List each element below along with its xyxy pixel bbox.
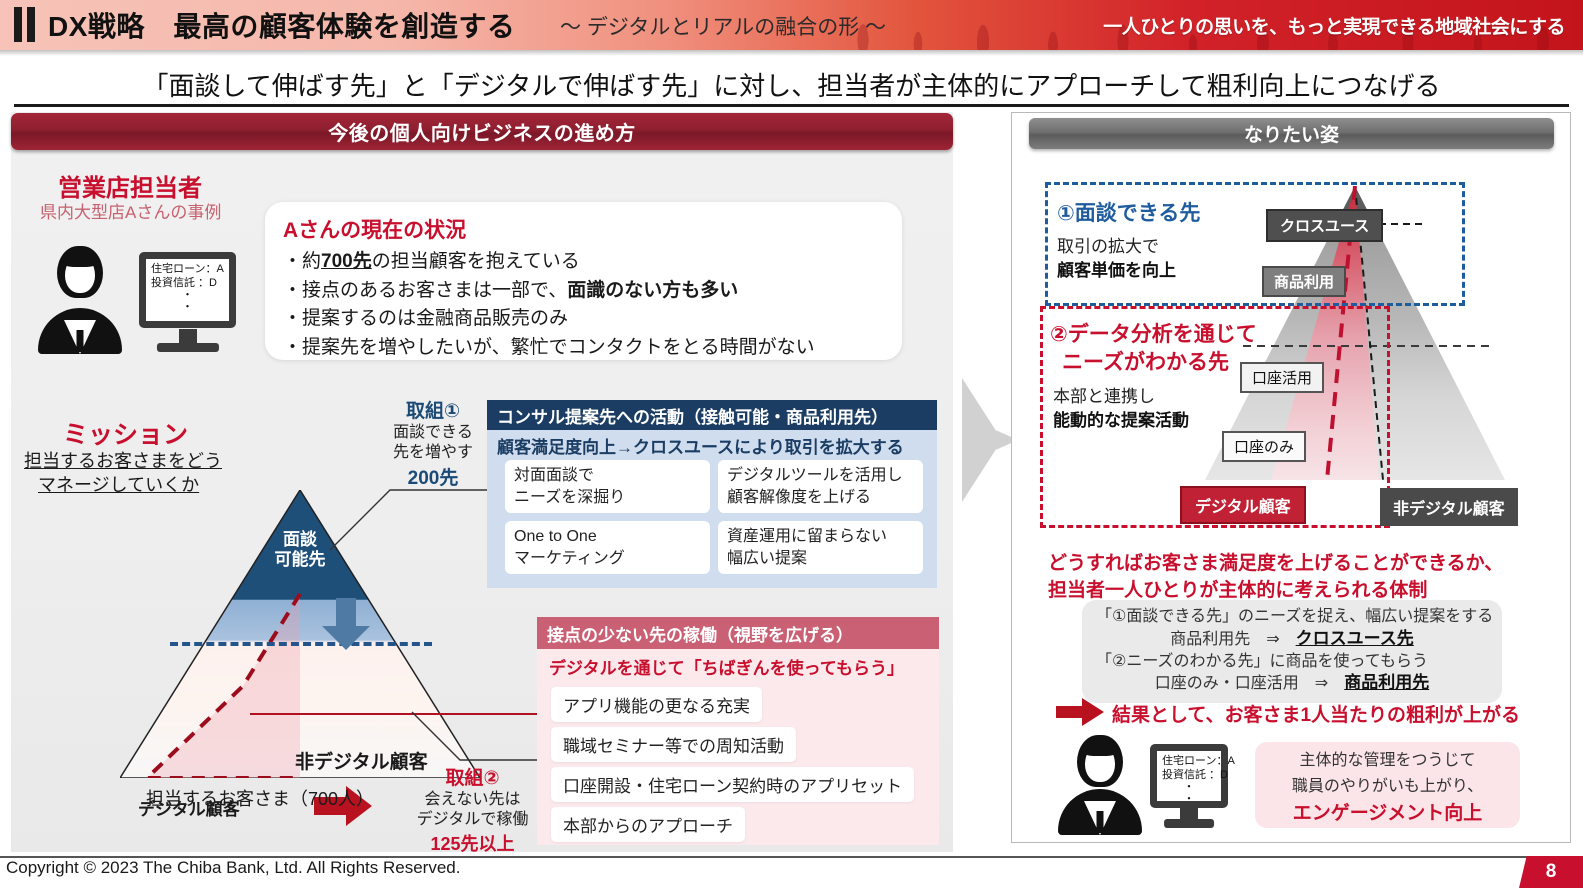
list-item: ・提案先を増やしたいが、繁忙でコンタクトをとる時間がない bbox=[283, 334, 884, 363]
torikumi-2-label: 取組② 会えない先は デジタルで稼働 125先以上 bbox=[405, 763, 540, 856]
torikumi-1-desc-1: 面談できる bbox=[378, 423, 488, 443]
result-monitor-icon: 住宅ローン：A 投資信託 ：D ・ ・ bbox=[1150, 744, 1228, 828]
left-panel-title: 今後の個人向けビジネスの進め方 bbox=[11, 113, 953, 150]
consult-activity-box: コンサル提案先への活動（接触可能・商品利用先） 顧客満足度向上→クロスユースによ… bbox=[487, 400, 937, 588]
current-situation-card: Aさんの現在の状況 ・約700先の担当顧客を抱えている ・接点のあるお客さまは一… bbox=[265, 202, 902, 360]
list-item: ・提案するのは金融商品販売のみ bbox=[283, 305, 884, 334]
mission-line-1: 担当するお客さまをどう bbox=[24, 447, 222, 473]
staff-subtitle: 県内大型店Aさんの事例 bbox=[40, 198, 221, 223]
summary-line-4-bold: 商品利用先 bbox=[1344, 673, 1429, 692]
list-item: 口座開設・住宅ローン契約時のアプリセット bbox=[551, 767, 914, 802]
low-contact-activation-box: 接点の少ない先の稼働（視野を広げる） デジタルを通じて「ちばぎんを使ってもらう」… bbox=[537, 617, 939, 845]
pyramid-down-arrow-icon bbox=[320, 598, 372, 650]
current-situation-title: Aさんの現在の状況 bbox=[283, 214, 884, 244]
header-title: DX戦略 最高の顧客体験を創造する bbox=[48, 5, 515, 45]
tag-cross-use: クロスユース bbox=[1266, 209, 1383, 242]
staff-monitor-icon: 住宅ローン：A 投資信託 ：D ・ ・ bbox=[139, 252, 236, 352]
block-2-line-1: 本部と連携し bbox=[1053, 382, 1155, 407]
tag-account-active: 口座活用 bbox=[1240, 362, 1324, 393]
page-number: 8 bbox=[1519, 856, 1583, 888]
result-arrow-icon bbox=[1056, 698, 1104, 726]
pyramid-top-label: 面談 可能先 bbox=[275, 530, 326, 571]
engagement-line-1: 主体的な管理をつうじて bbox=[1299, 746, 1475, 770]
result-monitor-dots-2: ・ bbox=[1162, 794, 1216, 805]
header-bars-icon bbox=[14, 7, 40, 42]
torikumi-2-desc-1: 会えない先は bbox=[405, 790, 540, 810]
mission-title: ミッション bbox=[63, 415, 188, 451]
monitor-line-1: 住宅ローン：A bbox=[151, 263, 224, 276]
result-monitor-dots-1: ・ bbox=[1162, 782, 1216, 793]
left-pyramid: 面談 可能先 非デジタル顧客 デジタル顧客 bbox=[120, 490, 480, 778]
monitor-dots-1: ・ bbox=[151, 290, 224, 301]
low-contact-subtitle: デジタルを通じて「ちばぎんを使ってもらう」 bbox=[549, 654, 904, 679]
block-1-title: ①面談できる先 bbox=[1057, 197, 1200, 227]
list-item: 職域セミナー等での周知活動 bbox=[551, 727, 796, 762]
right-message-line-2: 担当者一人ひとりが主体的に考えられる体制 bbox=[1048, 575, 1427, 602]
list-item: ・約700先の担当顧客を抱えている bbox=[283, 248, 884, 277]
summary-line-3: 「②ニーズのわかる先」に商品を使ってもらう bbox=[1082, 651, 1502, 673]
header-shadow bbox=[0, 50, 1583, 56]
tag-non-digital-customer: 非デジタル顧客 bbox=[1380, 488, 1518, 526]
monitor-dots-2: ・ bbox=[151, 302, 224, 313]
low-contact-header: 接点の少ない先の稼働（視野を広げる） bbox=[537, 617, 939, 649]
lead-divider bbox=[14, 104, 1569, 107]
tag-product-use: 商品利用 bbox=[1262, 266, 1346, 297]
current-situation-list: ・約700先の担当顧客を抱えている ・接点のあるお客さまは一部で、面識のない方も… bbox=[283, 248, 884, 362]
block-1-line-1: 取引の拡大で bbox=[1057, 232, 1159, 257]
consult-activity-cards: 対面面談でニーズを深掘り デジタルツールを活用し顧客解像度を上げる One to… bbox=[505, 460, 923, 574]
slide-header: DX戦略 最高の顧客体験を創造する ～ デジタルとリアルの融合の形 ～ 一人ひと… bbox=[0, 0, 1583, 50]
engagement-line-2: 職員のやりがいも上がり、 bbox=[1292, 772, 1483, 796]
torikumi-1-label: 取組① 面談できる 先を増やす 200先 bbox=[378, 396, 488, 490]
torikumi-2-value: 125先以上 bbox=[405, 830, 540, 856]
consult-activity-subtitle: 顧客満足度向上→クロスユースにより取引を拡大する bbox=[497, 433, 904, 458]
summary-line-2-pre: 商品利用先 ⇒ bbox=[1170, 631, 1295, 648]
copyright-text: Copyright © 2023 The Chiba Bank, Ltd. Al… bbox=[6, 858, 460, 878]
summary-line-1: 「①面談できる先」のニーズを捉え、幅広い提案をする bbox=[1082, 606, 1502, 628]
staff-person-icon bbox=[34, 246, 126, 354]
torikumi-1-name: 取組① bbox=[378, 396, 488, 423]
list-item: アプリ機能の更なる充実 bbox=[551, 687, 762, 722]
engagement-box: 主体的な管理をつうじて 職員のやりがいも上がり、 エンゲージメント向上 bbox=[1255, 742, 1520, 828]
lead-statement: 「面談して伸ばす先」と「デジタルで伸ばす先」に対し、担当者が主体的にアプローチし… bbox=[0, 62, 1583, 106]
block-2-line-2: 能動的な提案活動 bbox=[1053, 406, 1189, 431]
torikumi-1-desc-2: 先を増やす bbox=[378, 443, 488, 463]
torikumi-2-name: 取組② bbox=[405, 763, 540, 790]
transition-arrow-icon bbox=[962, 378, 1018, 502]
list-item: 対面面談でニーズを深掘り bbox=[505, 460, 710, 513]
summary-line-4-pre: 口座のみ・口座活用 ⇒ bbox=[1155, 675, 1344, 692]
header-slogan: 一人ひとりの思いを、もっと実現できる地域社会にする bbox=[1103, 12, 1565, 39]
torikumi-1-value: 200先 bbox=[378, 463, 488, 490]
tag-digital-customer: デジタル顧客 bbox=[1180, 486, 1306, 524]
pyramid-red-connector-line bbox=[250, 713, 540, 715]
pyramid-top-label-1: 面談 bbox=[275, 530, 326, 550]
right-message-line-1: どうすればお客さま満足度を上げることができるか、 bbox=[1048, 548, 1503, 575]
list-item: デジタルツールを活用し顧客解像度を上げる bbox=[718, 460, 923, 513]
list-item: 本部からのアプローチ bbox=[551, 807, 745, 842]
header-subtitle: ～ デジタルとリアルの融合の形 ～ bbox=[560, 11, 886, 41]
pyramid-blue-dashed-line bbox=[170, 642, 432, 646]
pyramid-base-caption: 担当するお客さま（700人） bbox=[146, 785, 374, 811]
summary-line-2-bold: クロスユース先 bbox=[1296, 629, 1414, 648]
slide-root: DX戦略 最高の顧客体験を創造する ～ デジタルとリアルの融合の形 ～ 一人ひと… bbox=[0, 0, 1583, 888]
result-person-icon bbox=[1055, 735, 1145, 835]
result-monitor-line-2: 投資信託 ：D bbox=[1162, 769, 1216, 782]
block-1-line-2: 顧客単価を向上 bbox=[1057, 256, 1176, 281]
summary-line-4: 口座のみ・口座活用 ⇒ 商品利用先 bbox=[1082, 672, 1502, 695]
result-statement: 結果として、お客さま1人当たりの粗利が上がる bbox=[1112, 700, 1520, 727]
pyramid-top-label-2: 可能先 bbox=[275, 550, 326, 570]
torikumi-2-desc-2: デジタルで稼働 bbox=[405, 810, 540, 830]
right-panel-title: なりたい姿 bbox=[1029, 118, 1554, 149]
engagement-line-3: エンゲージメント向上 bbox=[1293, 798, 1483, 825]
list-item: ・接点のあるお客さまは一部で、面識のない方も多い bbox=[283, 277, 884, 306]
block-2-title-line-2: ニーズがわかる先 bbox=[1062, 346, 1229, 376]
list-item: One to Oneマーケティング bbox=[505, 521, 710, 574]
list-item: 資産運用に留まらない幅広い提案 bbox=[718, 521, 923, 574]
summary-line-2: 商品利用先 ⇒ クロスユース先 bbox=[1082, 628, 1502, 651]
result-monitor-line-1: 住宅ローン：A bbox=[1162, 755, 1216, 768]
block-2-title-line-1: ②データ分析を通じて bbox=[1050, 318, 1257, 348]
consult-activity-header: コンサル提案先への活動（接触可能・商品利用先） bbox=[487, 400, 937, 430]
tag-account-only: 口座のみ bbox=[1222, 431, 1306, 462]
monitor-line-2: 投資信託 ：D bbox=[151, 277, 224, 290]
right-summary-box: 「①面談できる先」のニーズを捉え、幅広い提案をする 商品利用先 ⇒ クロスユース… bbox=[1082, 600, 1502, 703]
